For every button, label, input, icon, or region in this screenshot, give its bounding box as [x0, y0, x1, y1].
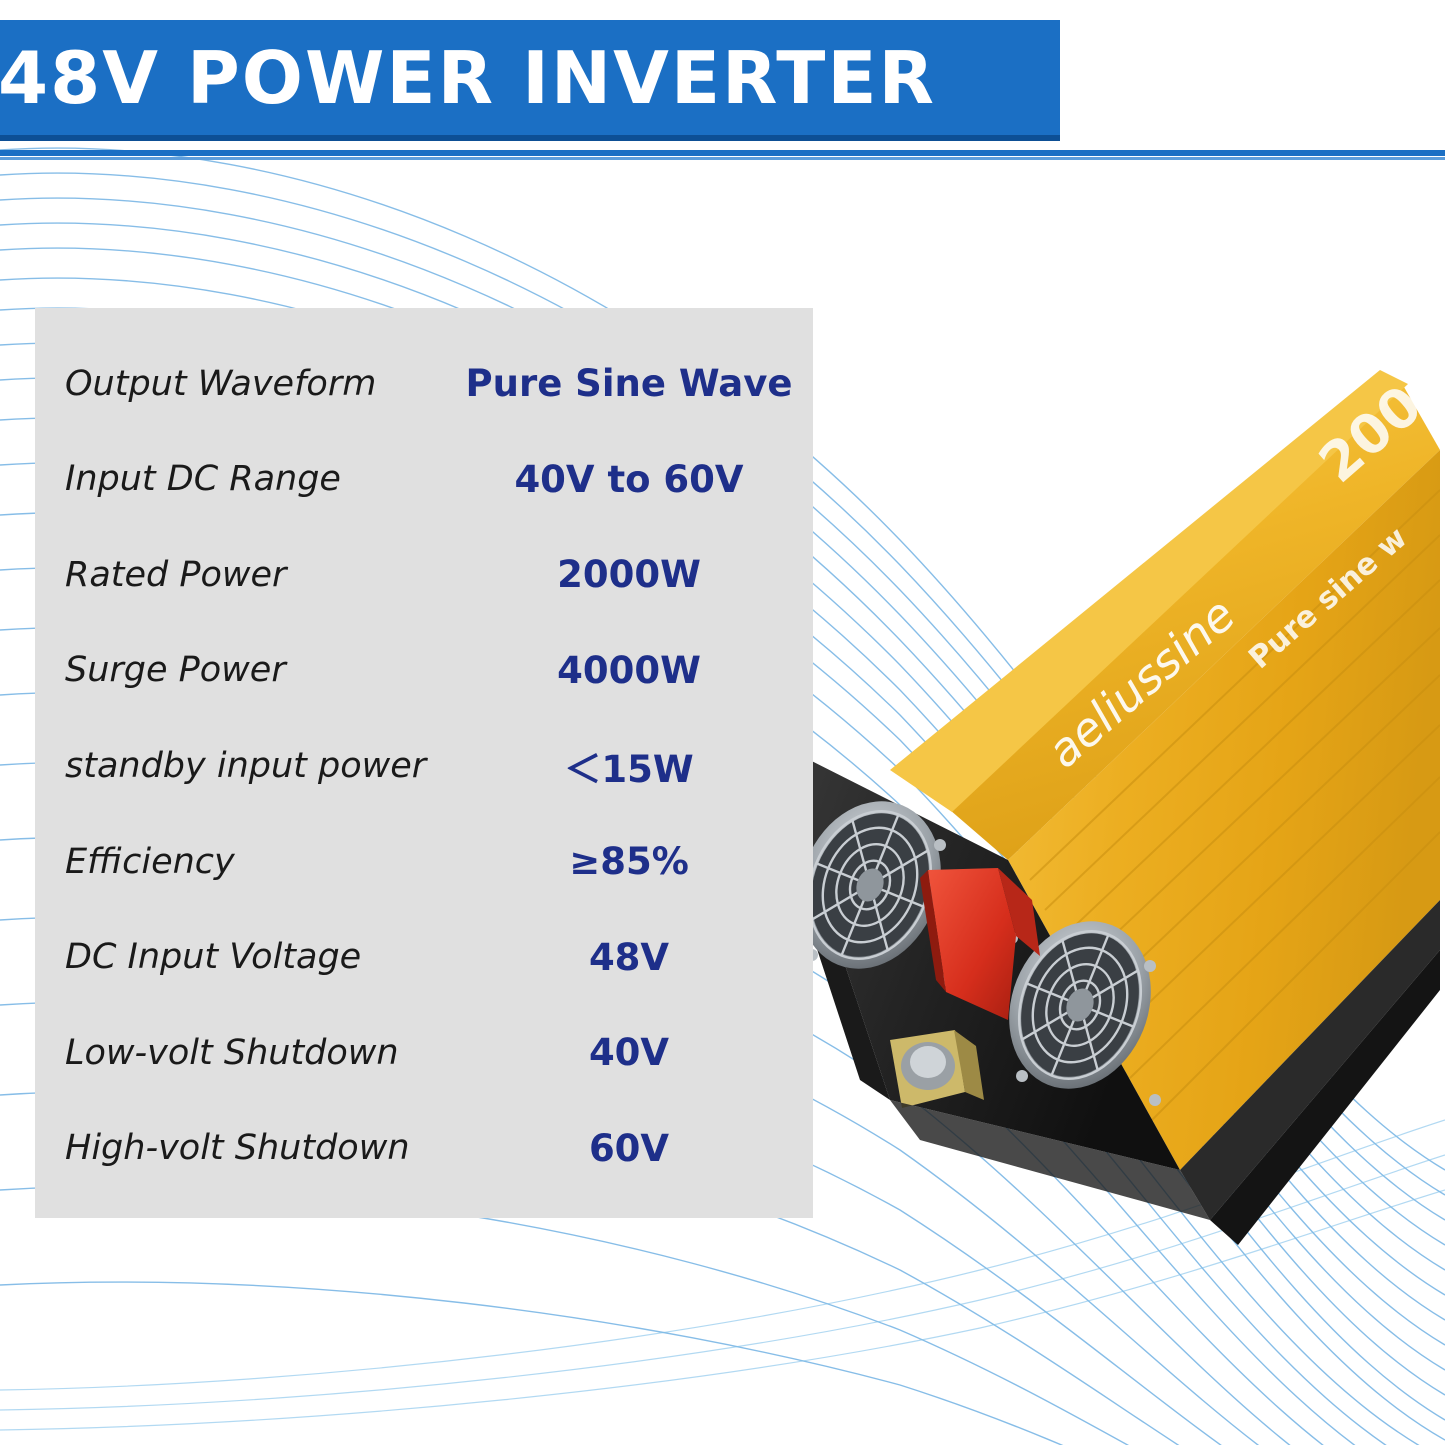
table-row: DC Input Voltage 48V — [35, 911, 813, 1003]
spec-value: 40V to 60V — [465, 458, 813, 501]
table-row: High-volt Shutdown 60V — [35, 1102, 813, 1194]
header-rule-thin — [0, 157, 1445, 160]
table-row: Efficiency ≥85% — [35, 816, 813, 908]
table-row: Input DC Range 40V to 60V — [35, 433, 813, 525]
table-row: Surge Power 4000W — [35, 624, 813, 716]
table-row: Rated Power 2000W — [35, 529, 813, 621]
spec-value: 60V — [465, 1127, 813, 1170]
page-title: 48V POWER INVERTER — [0, 36, 936, 120]
spec-label: Output Waveform — [35, 364, 465, 404]
spec-value: 48V — [465, 936, 813, 979]
table-row: standby input power ＜15W — [35, 720, 813, 812]
spec-label: Surge Power — [35, 650, 465, 690]
spec-value: ≥85% — [465, 840, 813, 883]
spec-label: standby input power — [35, 746, 465, 786]
table-row: Output Waveform Pure Sine Wave — [35, 338, 813, 430]
spec-value: 40V — [465, 1031, 813, 1074]
specifications-table: Output Waveform Pure Sine Wave Input DC … — [35, 308, 813, 1218]
spec-label: Efficiency — [35, 842, 465, 882]
spec-value: 2000W — [465, 553, 813, 596]
spec-label: Rated Power — [35, 555, 465, 595]
spec-label: High-volt Shutdown — [35, 1128, 465, 1168]
table-row: Low-volt Shutdown 40V — [35, 1007, 813, 1099]
spec-value: 4000W — [465, 649, 813, 692]
product-image-inverter: aeliussine Pure sine w 200 — [740, 340, 1440, 1280]
spec-label: DC Input Voltage — [35, 937, 465, 977]
spec-label: Input DC Range — [35, 459, 465, 499]
spec-value: ＜15W — [465, 739, 813, 793]
spec-value: Pure Sine Wave — [465, 362, 813, 405]
page-header-banner: 48V POWER INVERTER — [0, 20, 1060, 141]
spec-label: Low-volt Shutdown — [35, 1033, 465, 1073]
header-rule — [0, 150, 1445, 156]
